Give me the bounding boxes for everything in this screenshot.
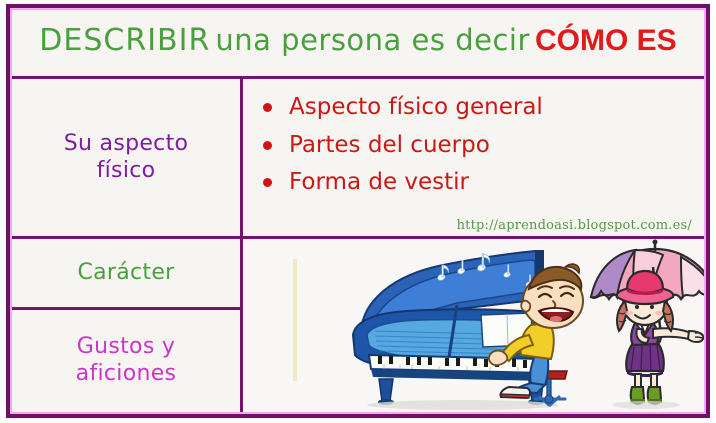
label-aspecto-line1: Su aspecto [64, 131, 189, 156]
poster-root: DESCRIBIR una persona es decir CÓMO ES S… [0, 0, 716, 423]
content-grid: DESCRIBIR una persona es decir CÓMO ES S… [12, 10, 704, 412]
page-title: DESCRIBIR una persona es decir CÓMO ES [39, 26, 676, 60]
list-item-label: Forma de vestir [289, 169, 469, 195]
poster-title-cell: DESCRIBIR una persona es decir CÓMO ES [12, 10, 704, 76]
bullet-list-cell: Aspecto físico general Partes del cuerpo… [243, 79, 704, 236]
list-item: Aspecto físico general [257, 91, 694, 124]
list-item-label: Aspecto físico general [289, 94, 543, 120]
row-label-gustos-y-aficiones: Gustos y aficiones [12, 310, 240, 412]
label-text-aspecto: Su aspecto físico [64, 131, 189, 185]
title-middle: una persona es decir [215, 23, 530, 57]
title-emphasis: CÓMO ES [535, 24, 677, 57]
title-verb: DESCRIBIR [39, 23, 210, 58]
list-item-label: Partes del cuerpo [289, 132, 490, 158]
row-label-su-aspecto-fisico: Su aspecto físico [12, 79, 240, 236]
source-watermark: http://aprendoasi.blogspot.com.es/ [457, 218, 692, 233]
row-label-caracter: Carácter [12, 239, 240, 307]
label-text-caracter: Carácter [77, 260, 174, 287]
label-gustos-line1: Gustos y [77, 334, 175, 359]
label-gustos-line2: aficiones [76, 361, 177, 386]
bullet-list: Aspecto físico general Partes del cuerpo… [257, 91, 694, 199]
bullet-dot-icon [263, 178, 272, 187]
bullet-dot-icon [263, 141, 272, 150]
list-item: Forma de vestir [257, 166, 694, 199]
bullet-dot-icon [263, 103, 272, 112]
list-item: Partes del cuerpo [257, 129, 694, 162]
illustration-svg [243, 239, 704, 412]
label-text-gustos: Gustos y aficiones [76, 334, 177, 388]
illustration-cell [243, 239, 704, 412]
label-aspecto-line2: físico [97, 158, 156, 183]
